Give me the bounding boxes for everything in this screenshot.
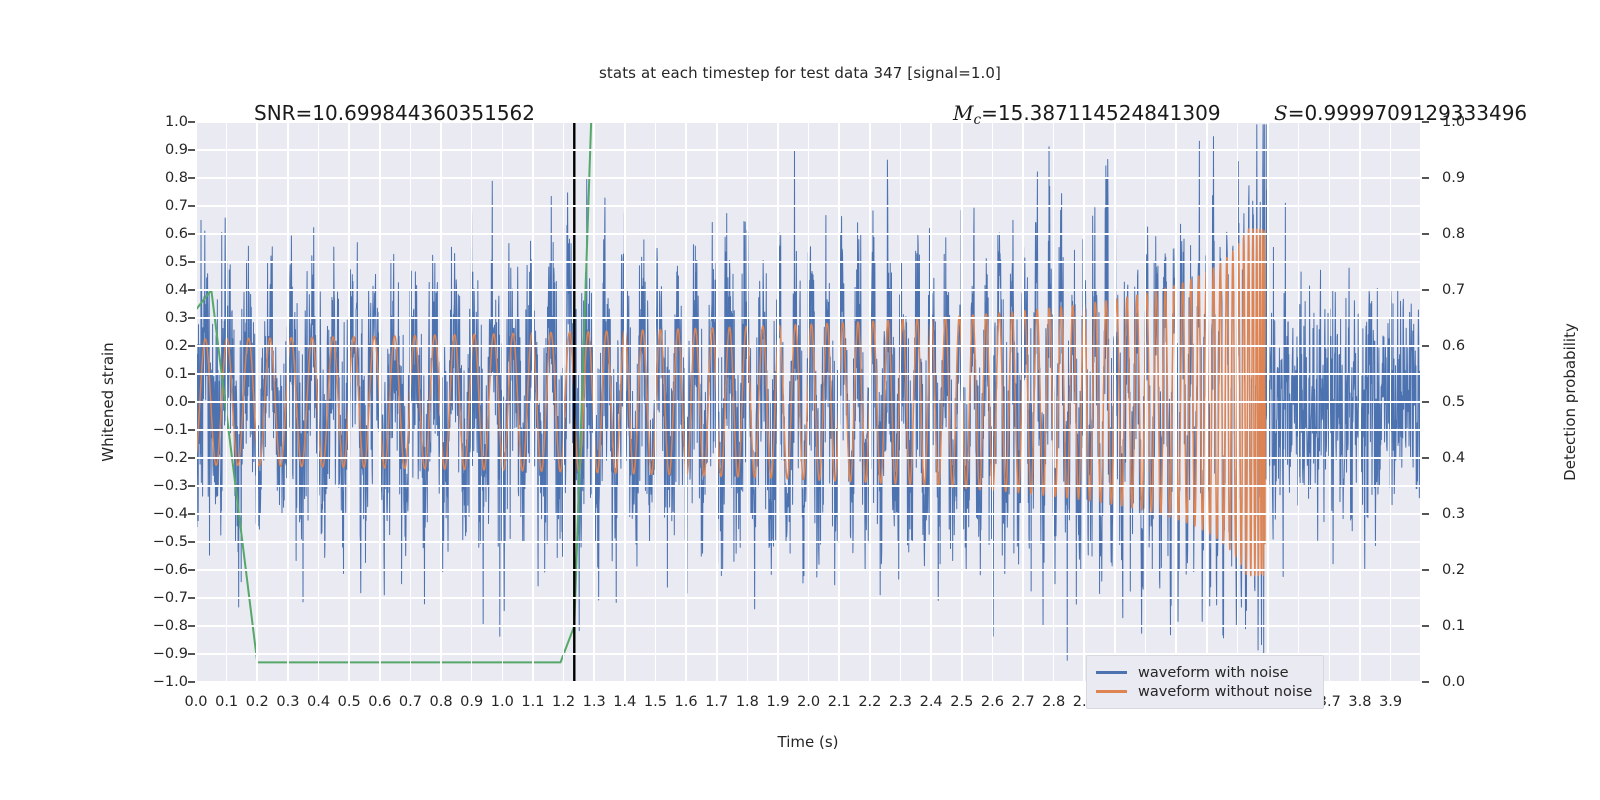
x-tick-label: 1.5 bbox=[644, 694, 667, 710]
x-tick-label: 0.5 bbox=[338, 694, 361, 710]
y-tick-mark-left bbox=[188, 345, 195, 347]
y-tick-mark-right bbox=[1422, 681, 1429, 683]
y-tick-mark-left bbox=[188, 289, 195, 291]
y-tick-label-left: 0.3 bbox=[165, 310, 188, 326]
y-tick-mark-left bbox=[188, 485, 195, 487]
y-tick-label-right: 0.9 bbox=[1442, 170, 1465, 186]
legend-item-with-noise: waveform with noise bbox=[1096, 663, 1312, 682]
y-tick-label-left: −0.4 bbox=[153, 506, 188, 522]
grid-line-vertical bbox=[992, 122, 994, 682]
grid-line-vertical bbox=[1114, 122, 1116, 682]
grid-line-vertical bbox=[532, 122, 534, 682]
x-tick-label: 2.1 bbox=[828, 694, 851, 710]
y-tick-label-right: 0.1 bbox=[1442, 618, 1465, 634]
grid-line-vertical bbox=[1390, 122, 1392, 682]
x-tick-label: 1.6 bbox=[675, 694, 698, 710]
grid-line-vertical bbox=[1145, 122, 1147, 682]
y-tick-mark-left bbox=[188, 121, 195, 123]
snr-annotation: SNR=10.699844360351562 bbox=[254, 101, 535, 125]
y-tick-mark-left bbox=[188, 149, 195, 151]
y-tick-label-left: −0.9 bbox=[153, 646, 188, 662]
y-tick-label-left: −0.8 bbox=[153, 618, 188, 634]
x-tick-label: 0.4 bbox=[307, 694, 330, 710]
y-tick-mark-right bbox=[1422, 625, 1429, 627]
x-tick-label: 0.2 bbox=[246, 694, 269, 710]
grid-line-vertical bbox=[869, 122, 871, 682]
y-tick-mark-left bbox=[188, 597, 195, 599]
grid-line-vertical bbox=[256, 122, 258, 682]
grid-line-vertical bbox=[1083, 122, 1085, 682]
grid-line-vertical bbox=[1022, 122, 1024, 682]
y-tick-label-right: 0.0 bbox=[1442, 674, 1465, 690]
y-tick-label-left: 0.5 bbox=[165, 254, 188, 270]
x-tick-label: 2.0 bbox=[797, 694, 820, 710]
x-tick-label: 0.6 bbox=[368, 694, 391, 710]
grid-line-vertical bbox=[471, 122, 473, 682]
grid-line-vertical bbox=[930, 122, 932, 682]
x-tick-label: 0.7 bbox=[399, 694, 422, 710]
grid-line-vertical bbox=[961, 122, 963, 682]
score-annotation: S=0.9999709129333496 bbox=[1274, 101, 1527, 125]
x-tick-label: 1.0 bbox=[491, 694, 514, 710]
y-tick-label-right: 0.4 bbox=[1442, 450, 1465, 466]
y-tick-mark-left bbox=[188, 513, 195, 515]
grid-line-vertical bbox=[348, 122, 350, 682]
y-tick-mark-right bbox=[1422, 569, 1429, 571]
chirp-mass-annotation: Mc=15.387114524841309 bbox=[953, 101, 1221, 128]
y-tick-label-left: 0.2 bbox=[165, 338, 188, 354]
x-tick-label: 1.4 bbox=[613, 694, 636, 710]
y-tick-mark-right bbox=[1422, 457, 1429, 459]
score-symbol: S bbox=[1274, 101, 1288, 125]
y-tick-label-right: 0.7 bbox=[1442, 282, 1465, 298]
y-tick-label-right: 0.5 bbox=[1442, 394, 1465, 410]
grid-line-vertical bbox=[900, 122, 902, 682]
grid-line-vertical bbox=[287, 122, 289, 682]
y-tick-mark-left bbox=[188, 205, 195, 207]
x-tick-label: 1.2 bbox=[552, 694, 575, 710]
y-tick-label-left: 0.7 bbox=[165, 198, 188, 214]
y-tick-mark-left bbox=[188, 373, 195, 375]
x-tick-label: 0.1 bbox=[215, 694, 238, 710]
grid-line-vertical bbox=[1298, 122, 1300, 682]
grid-line-vertical bbox=[838, 122, 840, 682]
x-tick-label: 2.2 bbox=[858, 694, 881, 710]
chirp-mass-value: =15.387114524841309 bbox=[981, 101, 1220, 125]
grid-line-vertical bbox=[196, 122, 197, 682]
chirp-mass-subscript: c bbox=[973, 112, 981, 128]
y-tick-mark-left bbox=[188, 541, 195, 543]
x-tick-label: 0.8 bbox=[430, 694, 453, 710]
legend-swatch-with-noise bbox=[1096, 671, 1127, 674]
y-tick-mark-left bbox=[188, 429, 195, 431]
x-tick-label: 2.6 bbox=[981, 694, 1004, 710]
x-tick-label: 0.9 bbox=[460, 694, 483, 710]
y-tick-label-left: −0.7 bbox=[153, 590, 188, 606]
y-tick-mark-left bbox=[188, 681, 195, 683]
y-tick-mark-left bbox=[188, 261, 195, 263]
grid-line-vertical bbox=[410, 122, 412, 682]
grid-line-vertical bbox=[716, 122, 718, 682]
y-tick-mark-left bbox=[188, 177, 195, 179]
x-tick-label: 0.3 bbox=[276, 694, 299, 710]
legend-label-without-noise: waveform without noise bbox=[1138, 684, 1312, 700]
y-tick-mark-left bbox=[188, 401, 195, 403]
y-tick-label-right: 0.3 bbox=[1442, 506, 1465, 522]
grid-line-vertical bbox=[808, 122, 810, 682]
y-tick-mark-left bbox=[188, 233, 195, 235]
y-tick-label-left: 0.9 bbox=[165, 142, 188, 158]
y-tick-mark-right bbox=[1422, 289, 1429, 291]
grid-line-vertical bbox=[379, 122, 381, 682]
grid-line-vertical bbox=[1237, 122, 1239, 682]
x-tick-label: 2.3 bbox=[889, 694, 912, 710]
y-tick-label-left: −0.1 bbox=[153, 422, 188, 438]
y-tick-label-left: 0.6 bbox=[165, 226, 188, 242]
legend: waveform with noise waveform without noi… bbox=[1086, 655, 1324, 709]
x-tick-label: 2.5 bbox=[950, 694, 973, 710]
y-tick-mark-left bbox=[188, 653, 195, 655]
grid-line-vertical bbox=[1053, 122, 1055, 682]
y-tick-label-left: 0.8 bbox=[165, 170, 188, 186]
x-tick-label: 3.8 bbox=[1348, 694, 1371, 710]
x-axis-label: Time (s) bbox=[778, 733, 839, 751]
grid-line-vertical bbox=[1359, 122, 1361, 682]
grid-line-vertical bbox=[226, 122, 228, 682]
legend-swatch-without-noise bbox=[1096, 690, 1127, 693]
grid-line-vertical bbox=[563, 122, 565, 682]
y-tick-label-left: 1.0 bbox=[165, 114, 188, 130]
y-axis-label-right: Detection probability bbox=[1561, 323, 1579, 481]
y-axis-label-left: Whitened strain bbox=[99, 342, 117, 461]
figure-canvas: stats at each timestep for test data 347… bbox=[0, 0, 1600, 800]
grid-line-vertical bbox=[440, 122, 442, 682]
y-tick-mark-right bbox=[1422, 177, 1429, 179]
grid-line-vertical bbox=[747, 122, 749, 682]
y-tick-label-right: 0.6 bbox=[1442, 338, 1465, 354]
x-tick-label: 0.0 bbox=[184, 694, 207, 710]
legend-label-with-noise: waveform with noise bbox=[1138, 665, 1289, 681]
y-tick-label-left: 0.1 bbox=[165, 366, 188, 382]
grid-line-vertical bbox=[318, 122, 320, 682]
y-tick-label-right: 0.2 bbox=[1442, 562, 1465, 578]
x-tick-label: 1.1 bbox=[521, 694, 544, 710]
x-tick-label: 1.8 bbox=[736, 694, 759, 710]
y-tick-label-left: −0.5 bbox=[153, 534, 188, 550]
grid-line-vertical bbox=[624, 122, 626, 682]
grid-line-vertical bbox=[1175, 122, 1177, 682]
score-value: =0.9999709129333496 bbox=[1288, 101, 1527, 125]
x-tick-label: 2.4 bbox=[920, 694, 943, 710]
y-tick-label-left: −0.2 bbox=[153, 450, 188, 466]
plot-area bbox=[196, 122, 1420, 682]
y-tick-mark-right bbox=[1422, 345, 1429, 347]
x-tick-label: 1.3 bbox=[583, 694, 606, 710]
y-tick-label-left: 0.0 bbox=[165, 394, 188, 410]
x-tick-label: 1.7 bbox=[705, 694, 728, 710]
page-title: stats at each timestep for test data 347… bbox=[0, 64, 1600, 82]
x-tick-label: 2.8 bbox=[1042, 694, 1065, 710]
y-tick-mark-left bbox=[188, 569, 195, 571]
y-tick-label-left: −1.0 bbox=[153, 674, 188, 690]
y-tick-mark-left bbox=[188, 317, 195, 319]
y-tick-label-left: −0.6 bbox=[153, 562, 188, 578]
grid-line-vertical bbox=[502, 122, 504, 682]
x-tick-label: 3.9 bbox=[1379, 694, 1402, 710]
y-tick-mark-right bbox=[1422, 233, 1429, 235]
grid-line-vertical bbox=[655, 122, 657, 682]
y-tick-mark-right bbox=[1422, 401, 1429, 403]
y-tick-label-right: 0.8 bbox=[1442, 226, 1465, 242]
grid-line-vertical bbox=[1329, 122, 1331, 682]
grid-line-vertical bbox=[685, 122, 687, 682]
grid-line-vertical bbox=[1206, 122, 1208, 682]
grid-line-vertical bbox=[1267, 122, 1269, 682]
y-tick-mark-right bbox=[1422, 513, 1429, 515]
y-tick-label-left: 0.4 bbox=[165, 282, 188, 298]
y-tick-label-left: −0.3 bbox=[153, 478, 188, 494]
y-tick-mark-left bbox=[188, 457, 195, 459]
x-tick-label: 1.9 bbox=[766, 694, 789, 710]
y-tick-mark-left bbox=[188, 625, 195, 627]
grid-line-vertical bbox=[777, 122, 779, 682]
x-tick-label: 2.7 bbox=[1011, 694, 1034, 710]
legend-item-without-noise: waveform without noise bbox=[1096, 682, 1312, 701]
grid-line-vertical bbox=[593, 122, 595, 682]
chirp-mass-symbol: M bbox=[953, 101, 973, 125]
